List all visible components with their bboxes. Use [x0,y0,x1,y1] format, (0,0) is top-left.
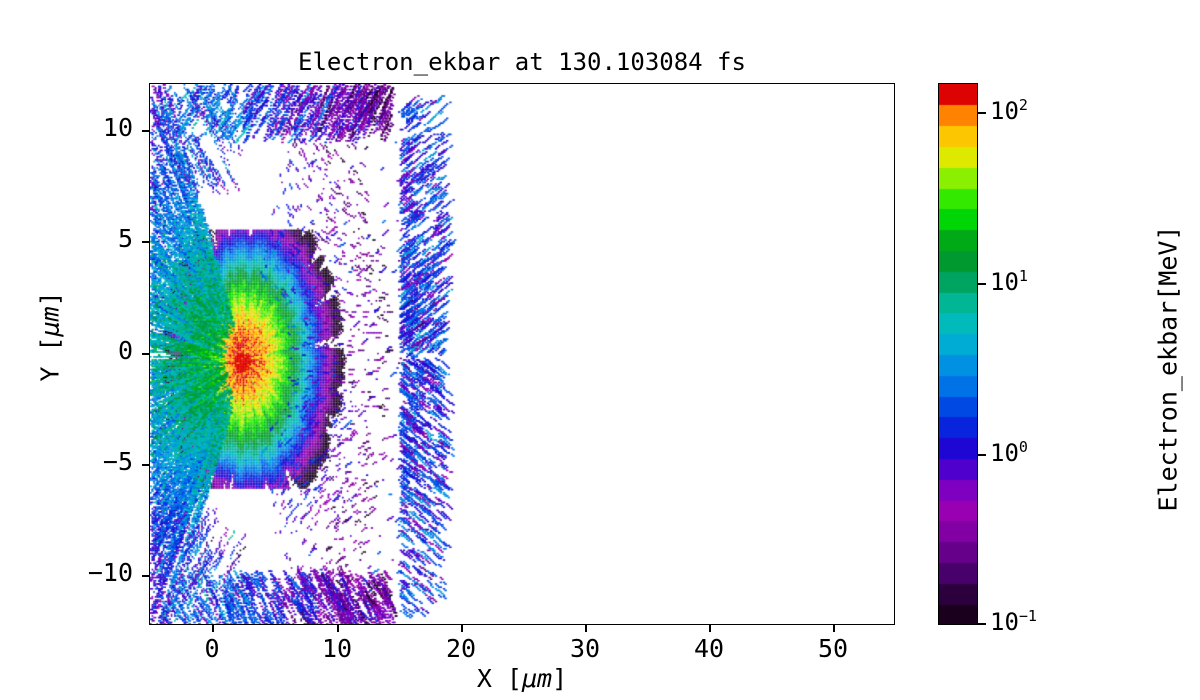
y-tick-label: 0 [23,336,133,365]
plot-axes-area[interactable] [149,83,895,625]
particle-energy-heatmap [150,84,895,625]
y-axis-label-suffix: ] [36,291,65,306]
y-tick-mark [142,241,149,243]
x-tick-label: 30 [540,634,630,663]
y-tick-label: −10 [23,558,133,587]
figure-canvas: Electron_ekbar at 130.103084 fs X [μm] Y… [0,0,1200,700]
x-tick-mark [212,625,214,632]
page-title: Electron_ekbar at 130.103084 fs [149,48,895,76]
x-axis-label: X [μm] [149,664,895,693]
x-axis-label-suffix: ] [552,664,567,693]
x-tick-label: 50 [788,634,878,663]
colorbar-tick-label: 101 [990,267,1028,296]
x-tick-mark [337,625,339,632]
colorbar-gradient [939,84,978,625]
y-tick-label: 10 [23,113,133,142]
colorbar-tick-label: 100 [990,438,1028,467]
x-tick-label: 40 [664,634,754,663]
y-tick-mark [142,464,149,466]
y-tick-label: 5 [23,224,133,253]
colorbar-tick-label: 10−1 [990,607,1037,636]
y-axis-label-unit: μm [36,306,65,336]
y-tick-mark [142,130,149,132]
x-axis-label-prefix: X [ [477,664,522,693]
colorbar-tick-mark [978,454,986,456]
x-tick-label: 0 [167,634,257,663]
x-tick-mark [585,625,587,632]
colorbar-tick-mark [978,283,986,285]
colorbar-tick-mark [978,623,986,625]
x-tick-mark [461,625,463,632]
y-tick-label: −5 [23,447,133,476]
colorbar-tick-mark [978,112,986,114]
colorbar-tick-label: 102 [990,96,1028,125]
x-tick-mark [833,625,835,632]
colorbar[interactable] [938,83,978,625]
y-tick-mark [142,353,149,355]
colorbar-label: Electron_ekbar[MeV] [1154,159,1183,579]
y-tick-mark [142,575,149,577]
x-tick-label: 10 [292,634,382,663]
x-axis-label-unit: μm [522,664,552,693]
x-tick-mark [709,625,711,632]
x-tick-label: 20 [416,634,506,663]
